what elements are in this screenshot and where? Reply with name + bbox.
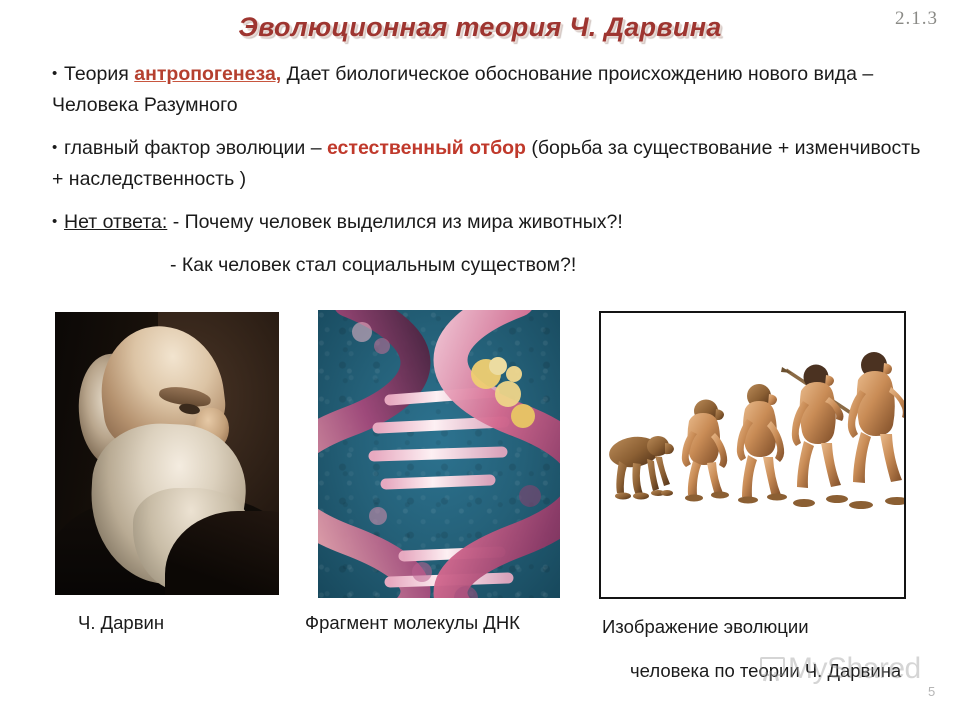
bullet-paragraph-2: •главный фактор эволюции – естественный … <box>52 132 922 195</box>
text-segment-plain: - Почему человек выделился из мира живот… <box>167 211 623 233</box>
page-title: Эволюционная теория Ч. Дарвина <box>0 12 960 43</box>
evolution-figure-2 <box>682 400 729 502</box>
evolution-figure-4 <box>781 365 854 508</box>
caption-evolution-line2: человека по теории Ч. Дарвина <box>630 656 942 686</box>
text-segment-natural-selection: естественный отбор <box>327 137 526 159</box>
text-segment-antropogenez: антропогенеза, <box>134 63 281 85</box>
text-segment-question-2: - Как человек стал социальным существом?… <box>170 250 922 281</box>
evolution-figure-3 <box>737 384 787 504</box>
figures-row <box>0 310 960 600</box>
image-portrait-charles-darwin <box>55 312 279 595</box>
bullet-paragraph-3: •Нет ответа: - Почему человек выделился … <box>52 206 922 281</box>
evolution-figure-5 <box>848 352 904 509</box>
page-number: 5 <box>928 684 935 699</box>
image-dna-double-helix <box>318 310 560 598</box>
bullet-paragraph-1: •Теория антропогенеза, Дает биологическо… <box>52 58 922 121</box>
bullet-dot-icon: • <box>52 58 64 89</box>
caption-dna: Фрагмент молекулы ДНК <box>305 608 520 638</box>
dna-helix-graphic <box>318 310 560 598</box>
caption-evolution-line1: Изображение эволюции <box>602 616 809 637</box>
evolution-figures-graphic <box>601 313 904 597</box>
bullet-dot-icon: • <box>52 132 64 163</box>
text-segment-plain: главный фактор эволюции – <box>64 137 327 159</box>
image-march-of-progress <box>599 311 906 599</box>
bullet-dot-icon: • <box>52 206 64 237</box>
text-segment-plain: Теория <box>64 63 134 85</box>
caption-evolution: Изображение эволюции человека по теории … <box>602 612 942 686</box>
slide-root: 2.1.3 Эволюционная теория Ч. Дарвина •Те… <box>0 0 960 720</box>
caption-darwin: Ч. Дарвин <box>78 608 164 638</box>
body-text-block: •Теория антропогенеза, Дает биологическо… <box>52 58 922 290</box>
evolution-figure-1 <box>607 434 674 500</box>
text-segment-no-answer: Нет ответа: <box>64 211 167 233</box>
